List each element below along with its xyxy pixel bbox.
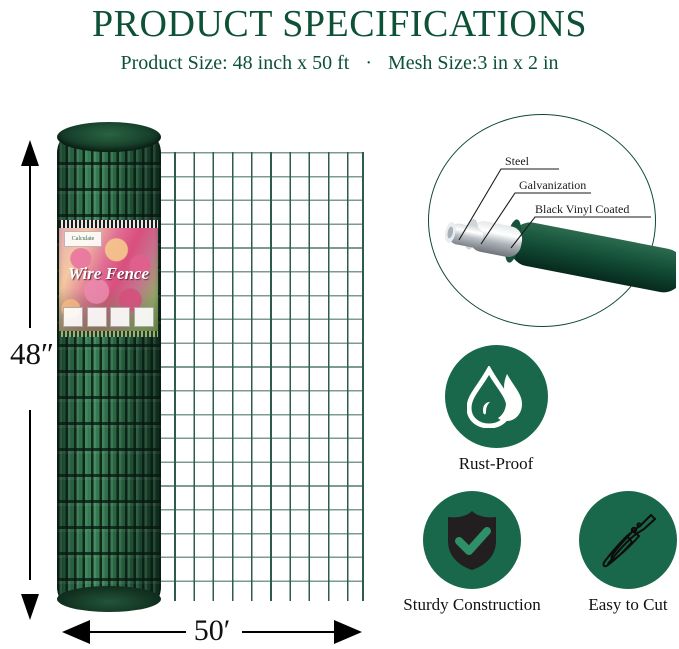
roll-body xyxy=(57,136,161,604)
feature-label: Sturdy Construction xyxy=(372,595,572,615)
product-figure: Calculate Wire Fence xyxy=(0,112,400,649)
roll-top-ellipse xyxy=(57,122,161,152)
dimension-line-right xyxy=(242,631,338,633)
product-label-sticker: Calculate Wire Fence xyxy=(59,220,158,337)
dimension-line-lower xyxy=(29,410,31,580)
arrow-right-icon xyxy=(334,620,362,644)
label-bottom-bar xyxy=(59,331,158,337)
height-dimension-label: 48″ xyxy=(4,336,60,372)
label-product-name: Wire Fence xyxy=(59,264,158,284)
feature-sturdy-construction: Sturdy Construction xyxy=(372,491,572,615)
product-size-label: Product Size: 48 inch x 50 ft xyxy=(120,52,349,75)
page-title: PRODUCT SPECIFICATIONS xyxy=(0,2,679,46)
vinyl-layer xyxy=(502,218,676,296)
feature-rust-proof: Rust-Proof xyxy=(396,345,596,474)
feature-easy-to-cut: Easy to Cut xyxy=(548,491,679,615)
roll-bottom-ellipse xyxy=(57,586,161,612)
label-spec-box xyxy=(110,307,130,327)
wire-cross-section-diagram xyxy=(423,112,676,330)
water-drop-icon xyxy=(467,366,525,428)
arrow-down-icon xyxy=(21,594,39,620)
feature-badges: Rust-Proof Sturdy Construction xyxy=(380,345,679,649)
mesh-size-label: Mesh Size:3 in x 2 in xyxy=(388,52,559,75)
feature-circle xyxy=(445,345,548,448)
feature-circle xyxy=(579,491,677,589)
dimension-line-upper xyxy=(29,162,31,328)
product-specifications-infographic: PRODUCT SPECIFICATIONS Product Size: 48 … xyxy=(0,0,679,649)
wire-layer-label-galvanization: Galvanization xyxy=(519,178,586,193)
label-spec-boxes xyxy=(63,307,154,327)
specification-subtitle: Product Size: 48 inch x 50 ft · Mesh Siz… xyxy=(0,52,679,75)
subtitle-separator: · xyxy=(354,52,383,75)
brand-logo: Calculate xyxy=(64,231,102,247)
label-spec-box xyxy=(87,307,107,327)
width-dimension-label: 50′ xyxy=(180,614,244,648)
wire-construction-detail: Steel Galvanization Black Vinyl Coated xyxy=(423,112,676,330)
height-dimension-arrow: 48″ xyxy=(8,140,54,620)
wire-layer-label-vinyl: Black Vinyl Coated xyxy=(535,202,629,217)
header: PRODUCT SPECIFICATIONS Product Size: 48 … xyxy=(0,0,679,96)
label-spec-box xyxy=(134,307,154,327)
shield-check-icon xyxy=(444,509,500,571)
wire-mesh-sheet xyxy=(155,152,362,601)
feature-label: Rust-Proof xyxy=(396,454,596,474)
feature-label: Easy to Cut xyxy=(548,595,679,615)
wire-fence-roll xyxy=(57,122,161,612)
wire-layer-label-steel: Steel xyxy=(505,154,529,169)
label-spec-box xyxy=(63,307,83,327)
width-dimension-arrow: 50′ xyxy=(62,618,362,646)
pliers-icon xyxy=(597,509,659,571)
label-top-stripes xyxy=(59,220,158,228)
dimension-line-left xyxy=(86,631,186,633)
feature-circle xyxy=(423,491,521,589)
